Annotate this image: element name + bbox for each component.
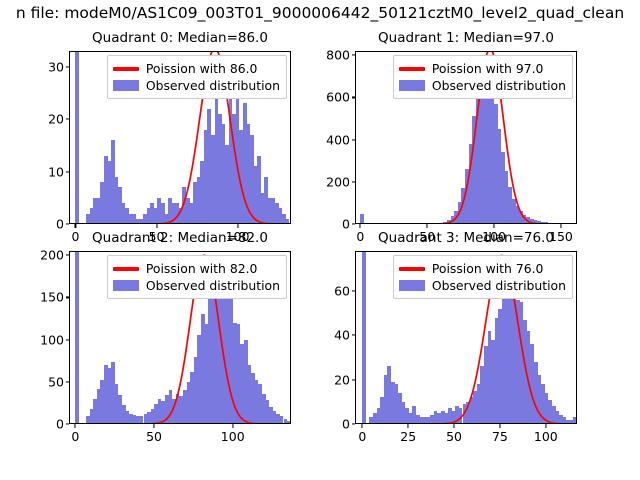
subplot-quadrant-1: Quadrant 1: Median=97.002004006008000501…	[355, 51, 577, 224]
legend-entry-observed: Observed distribution	[113, 277, 280, 294]
y-tick-mark	[352, 423, 356, 424]
subplot-quadrant-0: Quadrant 0: Median=86.00102030050100Pois…	[69, 51, 291, 224]
legend-label-poisson: Poission with 76.0	[432, 261, 544, 276]
y-tick-mark	[66, 423, 70, 424]
legend-label-observed: Observed distribution	[146, 278, 280, 293]
matplotlib-figure: n file: modeM0/AS1C09_003T01_9000006442_…	[0, 0, 640, 480]
x-tick-mark	[560, 224, 561, 228]
y-tick-mark	[352, 97, 356, 98]
subplot-quadrant-2: Quadrant 2: Median=82.005010015020005010…	[69, 251, 291, 424]
y-tick-mark	[66, 119, 70, 120]
quadrant-1-legend[interactable]: Poission with 97.0Observed distribution	[393, 55, 573, 99]
legend-label-observed: Observed distribution	[432, 278, 566, 293]
legend-entry-poisson: Poission with 97.0	[399, 60, 566, 77]
legend-label-observed: Observed distribution	[432, 78, 566, 93]
x-tick-mark	[153, 424, 154, 428]
y-tick-mark	[66, 381, 70, 382]
legend-label-poisson: Poission with 97.0	[432, 61, 544, 76]
legend-patch-swatch-icon	[113, 80, 139, 91]
y-tick-label: 0	[56, 417, 64, 432]
quadrant-0-title: Quadrant 0: Median=86.0	[69, 30, 291, 46]
x-tick-mark	[494, 224, 495, 228]
y-tick-label: 0	[342, 417, 350, 432]
y-tick-label: 60	[334, 283, 350, 298]
x-tick-mark	[362, 424, 363, 428]
quadrant-3-legend[interactable]: Poission with 76.0Observed distribution	[393, 255, 573, 299]
x-tick-mark	[499, 424, 500, 428]
x-tick-mark	[237, 224, 238, 228]
x-tick-label: 0	[71, 429, 79, 444]
legend-entry-observed: Observed distribution	[399, 277, 566, 294]
y-tick-mark	[352, 290, 356, 291]
quadrant-0-legend[interactable]: Poission with 86.0Observed distribution	[107, 55, 287, 99]
y-tick-mark	[352, 223, 356, 224]
x-tick-mark	[232, 424, 233, 428]
y-tick-label: 600	[326, 90, 350, 105]
y-tick-label: 50	[48, 374, 64, 389]
y-tick-mark	[66, 66, 70, 67]
y-tick-label: 20	[48, 112, 64, 127]
y-tick-label: 10	[48, 164, 64, 179]
y-tick-label: 800	[326, 48, 350, 63]
x-tick-label: 50	[146, 429, 162, 444]
y-tick-mark	[352, 379, 356, 380]
legend-patch-swatch-icon	[399, 280, 425, 291]
legend-patch-swatch-icon	[113, 280, 139, 291]
legend-label-poisson: Poission with 82.0	[146, 261, 258, 276]
quadrant-2-legend[interactable]: Poission with 82.0Observed distribution	[107, 255, 287, 299]
x-tick-label: 0	[358, 429, 366, 444]
legend-entry-poisson: Poission with 82.0	[113, 260, 280, 277]
y-tick-mark	[66, 339, 70, 340]
legend-label-poisson: Poission with 86.0	[146, 61, 258, 76]
y-tick-label: 100	[40, 332, 64, 347]
legend-line-swatch-icon	[113, 267, 139, 271]
x-tick-label: 75	[492, 429, 508, 444]
x-tick-mark	[75, 424, 76, 428]
quadrant-3-title: Quadrant 3: Median=76.0	[355, 230, 577, 246]
legend-entry-poisson: Poission with 76.0	[399, 260, 566, 277]
legend-patch-swatch-icon	[399, 80, 425, 91]
y-tick-mark	[66, 297, 70, 298]
y-tick-mark	[352, 335, 356, 336]
legend-line-swatch-icon	[113, 67, 139, 71]
y-tick-label: 0	[342, 217, 350, 232]
y-tick-mark	[66, 255, 70, 256]
y-tick-mark	[352, 55, 356, 56]
legend-entry-poisson: Poission with 86.0	[113, 60, 280, 77]
legend-line-swatch-icon	[399, 67, 425, 71]
x-tick-mark	[156, 224, 157, 228]
x-tick-mark	[454, 424, 455, 428]
x-tick-label: 25	[400, 429, 416, 444]
y-tick-label: 400	[326, 132, 350, 147]
y-tick-mark	[352, 181, 356, 182]
y-tick-label: 150	[40, 290, 64, 305]
y-tick-label: 200	[40, 248, 64, 263]
legend-entry-observed: Observed distribution	[399, 77, 566, 94]
y-tick-mark	[66, 171, 70, 172]
x-tick-mark	[545, 424, 546, 428]
legend-entry-observed: Observed distribution	[113, 77, 280, 94]
x-tick-label: 100	[221, 429, 245, 444]
quadrant-1-title: Quadrant 1: Median=97.0	[355, 30, 577, 46]
x-tick-mark	[427, 224, 428, 228]
subplot-quadrant-3: Quadrant 3: Median=76.002040600255075100…	[355, 251, 577, 424]
legend-line-swatch-icon	[399, 267, 425, 271]
y-tick-mark	[352, 139, 356, 140]
y-tick-label: 20	[334, 372, 350, 387]
x-tick-mark	[75, 224, 76, 228]
x-tick-label: 50	[446, 429, 462, 444]
legend-label-observed: Observed distribution	[146, 78, 280, 93]
y-tick-label: 40	[334, 328, 350, 343]
quadrant-2-title: Quadrant 2: Median=82.0	[69, 230, 291, 246]
y-tick-label: 30	[48, 59, 64, 74]
x-tick-mark	[408, 424, 409, 428]
y-tick-label: 200	[326, 174, 350, 189]
y-tick-mark	[66, 223, 70, 224]
y-tick-label: 0	[56, 217, 64, 232]
figure-suptitle: n file: modeM0/AS1C09_003T01_9000006442_…	[0, 4, 640, 22]
x-tick-label: 100	[534, 429, 558, 444]
x-tick-mark	[360, 224, 361, 228]
